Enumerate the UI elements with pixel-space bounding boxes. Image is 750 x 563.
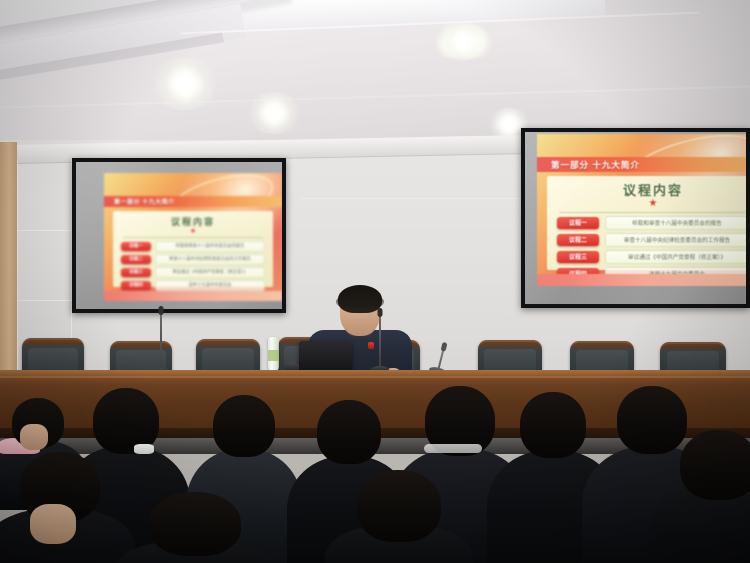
agenda-tag: 议程四 xyxy=(121,281,151,290)
agenda-tag: 议程三 xyxy=(121,268,151,277)
laptop xyxy=(299,341,352,373)
left-projection-screen: 第一部分 十九大简介 议程内容 ★ 议程一 听取和审查十八届中央委员会的报告 议… xyxy=(72,158,286,313)
slide-title: 议程内容 xyxy=(547,180,746,199)
agenda-text: 审议通过《中国共产党章程（修正案）》 xyxy=(605,250,746,264)
agenda-row: 议程二 审查十八届中央纪律检查委员会的工作报告 xyxy=(121,254,265,264)
ceiling-light xyxy=(245,92,303,134)
agenda-tag: 议程二 xyxy=(121,255,151,264)
agenda-text: 审议通过《中国共产党章程（修正案）》 xyxy=(155,267,265,278)
agenda-text: 选举十九届中央委员会 xyxy=(155,280,265,291)
ceiling-light xyxy=(148,58,222,110)
agenda-row: 议程一 听取和审查十八届中央委员会的报告 xyxy=(557,216,746,229)
slide-title: 议程内容 xyxy=(113,215,273,228)
presenter-hair xyxy=(338,285,382,313)
wall-seam xyxy=(17,160,18,400)
audience-member xyxy=(130,492,260,563)
slide-section-banner: 第一部分 十九大简介 xyxy=(104,196,282,207)
agenda-text: 听取和审查十八届中央委员会的报告 xyxy=(605,216,746,230)
ceiling-seam xyxy=(0,86,750,109)
red-star-icon: ★ xyxy=(649,199,658,209)
agenda-row: 议程二 审查十八届中央纪律检查委员会的工作报告 xyxy=(557,233,746,246)
wall-wood-trim xyxy=(0,142,17,387)
conference-room-photo: 第一部分 十九大简介 议程内容 ★ 议程一 听取和审查十八届中央委员会的报告 议… xyxy=(0,0,750,563)
agenda-text: 听取和审查十八届中央委员会的报告 xyxy=(155,241,265,252)
agenda-row: 议程三 审议通过《中国共产党章程（修正案）》 xyxy=(121,267,265,277)
agenda-text: 审查十八届中央纪律检查委员会的工作报告 xyxy=(605,233,746,247)
agenda-text: 审查十八届中央纪律检查委员会的工作报告 xyxy=(155,254,265,265)
agenda-row: 议程一 听取和审查十八届中央委员会的报告 xyxy=(121,241,265,251)
agenda-row: 议程三 审议通过《中国共产党章程（修正案）》 xyxy=(557,250,746,263)
water-bottle xyxy=(268,337,279,371)
red-star-icon: ★ xyxy=(190,228,196,235)
slide-section-banner: 第一部分 十九大简介 xyxy=(537,157,746,172)
agenda-tag: 议程二 xyxy=(557,234,599,246)
audience-member xyxy=(0,452,120,563)
audience-member xyxy=(340,470,458,563)
audience-member xyxy=(664,430,750,563)
right-slide: 第一部分 十九大简介 议程内容 ★ 议程一 听取和审查十八届中央委员会的报告 议… xyxy=(537,134,746,286)
left-slide: 第一部分 十九大简介 议程内容 ★ 议程一 听取和审查十八届中央委员会的报告 议… xyxy=(104,173,282,301)
microphone-center xyxy=(371,312,389,370)
ceiling-light xyxy=(438,24,488,60)
agenda-row: 议程四 选举十九届中央委员会 xyxy=(121,280,265,290)
right-projection-screen: 第一部分 十九大简介 议程内容 ★ 议程一 听取和审查十八届中央委员会的报告 议… xyxy=(521,128,750,308)
microphone-left xyxy=(152,310,170,372)
agenda-tag: 议程三 xyxy=(557,251,599,263)
agenda-tag: 议程一 xyxy=(121,242,151,251)
agenda-tag: 议程一 xyxy=(557,217,599,229)
